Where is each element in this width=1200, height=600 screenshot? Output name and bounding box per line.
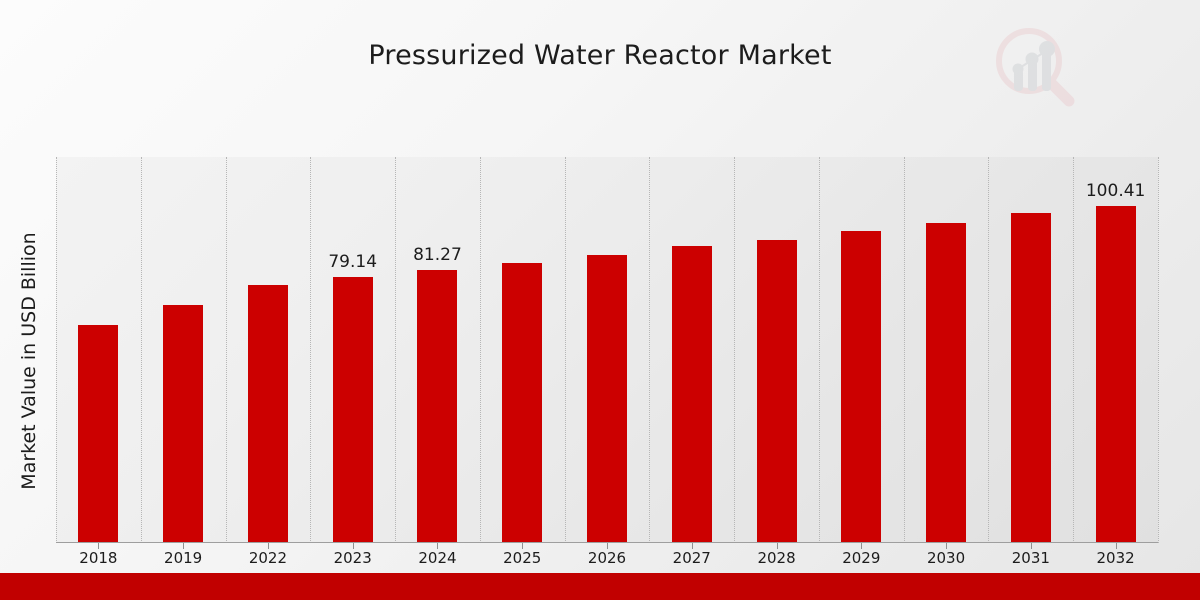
bar-rect-2018[interactable] xyxy=(78,325,118,543)
bar-2026[interactable] xyxy=(587,157,627,543)
x-tick-label-2025: 2025 xyxy=(503,549,541,567)
x-tick-label-2018: 2018 xyxy=(79,549,117,567)
x-tick-label-2027: 2027 xyxy=(673,549,711,567)
x-tick-label-2024: 2024 xyxy=(418,549,456,567)
bar-rect-2032[interactable] xyxy=(1096,206,1136,543)
bar-value-label-2023: 79.14 xyxy=(328,252,377,272)
bar-rect-2019[interactable] xyxy=(163,305,203,543)
bar-rect-2029[interactable] xyxy=(841,231,881,543)
bar-2023[interactable]: 79.14 xyxy=(333,157,373,543)
bars-layer: 79.1481.27100.41 xyxy=(56,157,1158,543)
bar-2031[interactable] xyxy=(1011,157,1051,543)
bar-2030[interactable] xyxy=(926,157,966,543)
bar-rect-2025[interactable] xyxy=(502,263,542,543)
x-tick-label-2026: 2026 xyxy=(588,549,626,567)
bottom-accent-bar xyxy=(0,573,1200,600)
bar-2019[interactable] xyxy=(163,157,203,543)
bar-rect-2024[interactable] xyxy=(417,270,457,543)
bar-value-label-2032: 100.41 xyxy=(1086,181,1145,201)
x-axis-tick-labels: 2018201920222023202420252026202720282029… xyxy=(56,549,1158,573)
bar-rect-2031[interactable] xyxy=(1011,213,1051,543)
x-tick-label-2028: 2028 xyxy=(757,549,795,567)
plot-area: 79.1481.27100.41 xyxy=(56,157,1158,543)
bar-2022[interactable] xyxy=(248,157,288,543)
x-tick-label-2023: 2023 xyxy=(334,549,372,567)
bar-2027[interactable] xyxy=(672,157,712,543)
page-title: Pressurized Water Reactor Market xyxy=(0,40,1200,71)
x-tick-label-2019: 2019 xyxy=(164,549,202,567)
bar-2025[interactable] xyxy=(502,157,542,543)
bar-rect-2028[interactable] xyxy=(757,240,797,543)
bar-rect-2026[interactable] xyxy=(587,255,627,543)
bar-2029[interactable] xyxy=(841,157,881,543)
bar-2032[interactable]: 100.41 xyxy=(1096,157,1136,543)
bar-rect-2030[interactable] xyxy=(926,223,966,543)
x-axis-line xyxy=(56,542,1158,543)
gridline xyxy=(1158,157,1159,543)
bar-rect-2023[interactable] xyxy=(333,277,373,543)
x-tick-label-2030: 2030 xyxy=(927,549,965,567)
bar-2024[interactable]: 81.27 xyxy=(417,157,457,543)
x-tick-label-2032: 2032 xyxy=(1097,549,1135,567)
y-axis-label: Market Value in USD Billion xyxy=(18,166,40,556)
bar-rect-2027[interactable] xyxy=(672,246,712,543)
bar-2018[interactable] xyxy=(78,157,118,543)
x-tick-label-2029: 2029 xyxy=(842,549,880,567)
x-tick-label-2031: 2031 xyxy=(1012,549,1050,567)
bar-value-label-2024: 81.27 xyxy=(413,245,462,265)
bar-2028[interactable] xyxy=(757,157,797,543)
bar-rect-2022[interactable] xyxy=(248,285,288,543)
x-tick-label-2022: 2022 xyxy=(249,549,287,567)
